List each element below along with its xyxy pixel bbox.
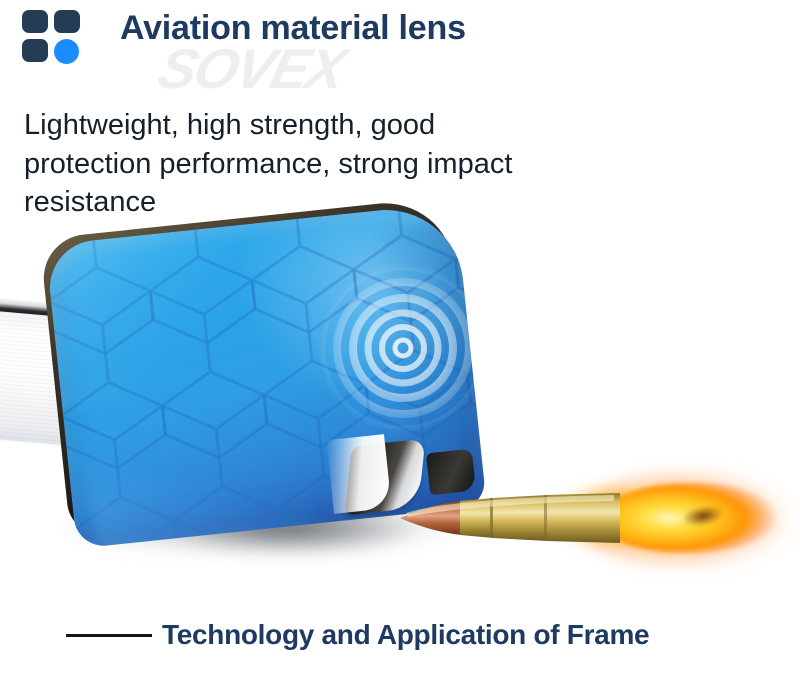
logo-dot-bottom-right-icon: [54, 39, 79, 64]
logo-square-top-left: [22, 10, 48, 33]
rifle-bullet: [398, 489, 638, 547]
impact-ripple-rings: [318, 263, 488, 433]
four-squares-logo-icon: [22, 10, 84, 64]
subtitle-text: Lightweight, high strength, good protect…: [24, 106, 564, 222]
footer-caption: Technology and Application of Frame: [0, 612, 800, 658]
product-banner: SOVEX Aviation material lens Lightweight…: [0, 0, 800, 674]
logo-square-bottom-left: [22, 39, 48, 62]
product-scene: [0, 205, 800, 595]
caption-text: Technology and Application of Frame: [162, 619, 649, 651]
logo-square-top-right: [54, 10, 80, 33]
caption-rule: [66, 634, 152, 637]
page-title: Aviation material lens: [120, 9, 466, 48]
